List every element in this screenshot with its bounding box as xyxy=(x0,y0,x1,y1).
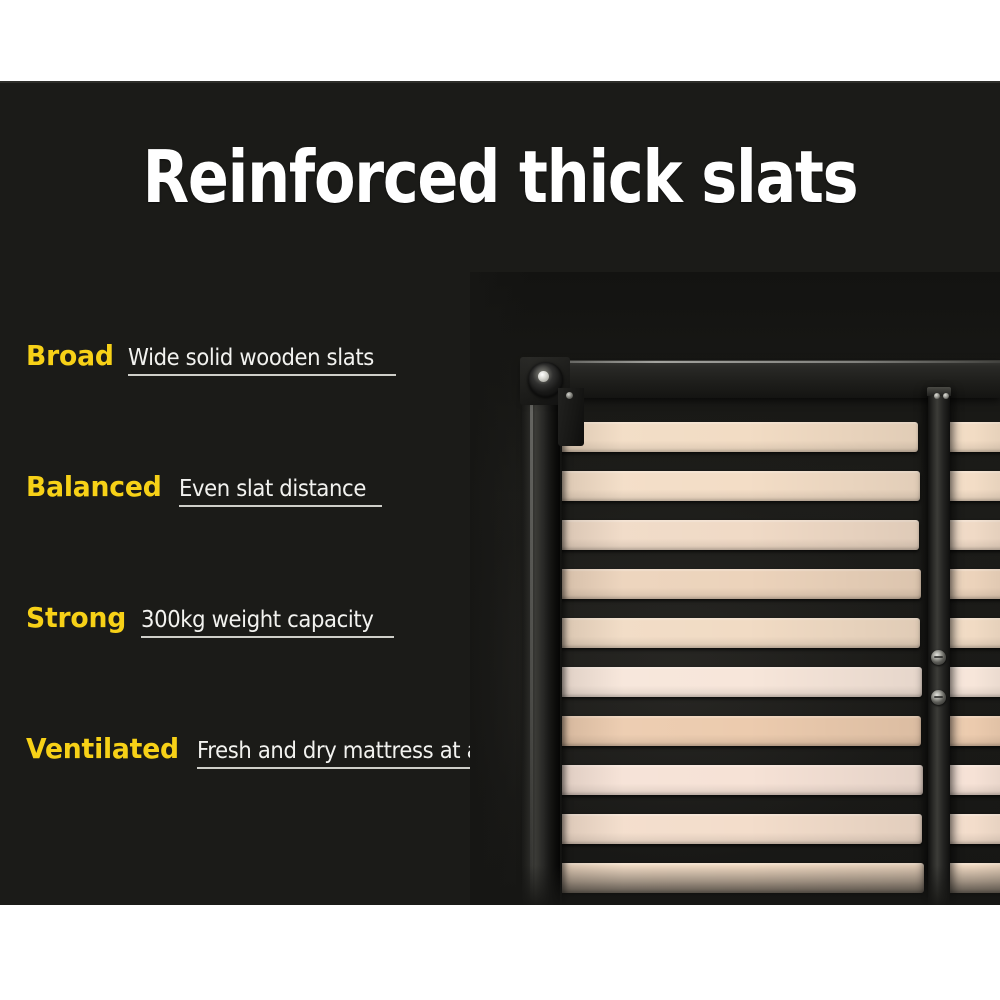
wooden-slat xyxy=(558,618,920,648)
corner-bracket-pin-icon xyxy=(566,392,573,399)
wooden-slat xyxy=(558,765,923,795)
frame-top-rail-highlight xyxy=(522,361,1000,363)
wooden-slat xyxy=(558,716,921,746)
product-feature-image: Reinforced thick slats Broad Wide solid … xyxy=(0,0,1000,1000)
frame-side-rail-shadow xyxy=(544,384,560,905)
wooden-slat xyxy=(558,814,922,844)
page-title: Reinforced thick slats xyxy=(80,138,920,216)
hero-panel: Reinforced thick slats Broad Wide solid … xyxy=(0,81,1000,905)
beam-pin-icon-top-left xyxy=(934,393,940,399)
feature-row-broad: Broad Wide solid wooden slats xyxy=(26,341,546,472)
wooden-slat xyxy=(558,520,919,550)
beam-pin-icon-top-right xyxy=(943,393,949,399)
feature-value-underline-broad: Wide solid wooden slats xyxy=(128,345,395,376)
feature-value-broad: Wide solid wooden slats xyxy=(128,345,374,371)
wooden-slat xyxy=(558,863,924,893)
feature-key-balanced: Balanced xyxy=(26,472,162,502)
frame-center-support-beam xyxy=(928,390,950,905)
feature-value-underline-balanced: Even slat distance xyxy=(179,476,382,507)
feature-row-strong: Strong 300kg weight capacity xyxy=(26,603,546,734)
feature-key-broad: Broad xyxy=(26,341,114,371)
feature-value-underline-strong: 300kg weight capacity xyxy=(141,607,394,638)
wooden-slat xyxy=(558,471,920,501)
corner-bolt-center-icon xyxy=(538,371,549,382)
feature-value-balanced: Even slat distance xyxy=(179,476,366,502)
panel-top-edge xyxy=(0,81,1000,83)
wooden-slat xyxy=(558,667,922,697)
frame-side-rail-highlight xyxy=(530,384,533,905)
wooden-slat xyxy=(558,569,921,599)
product-photo-bed-slats xyxy=(470,272,1000,905)
feature-row-ventilated: Ventilated Fresh and dry mattress at all… xyxy=(26,734,546,865)
feature-list: Broad Wide solid wooden slats Balanced E… xyxy=(26,341,546,865)
feature-row-balanced: Balanced Even slat distance xyxy=(26,472,546,603)
beam-screw-icon-lower xyxy=(931,690,946,705)
feature-key-ventilated: Ventilated xyxy=(26,734,179,764)
beam-screw-icon-upper xyxy=(931,650,946,665)
feature-value-strong: 300kg weight capacity xyxy=(141,607,373,633)
feature-key-strong: Strong xyxy=(26,603,126,633)
wooden-slat xyxy=(558,422,918,452)
